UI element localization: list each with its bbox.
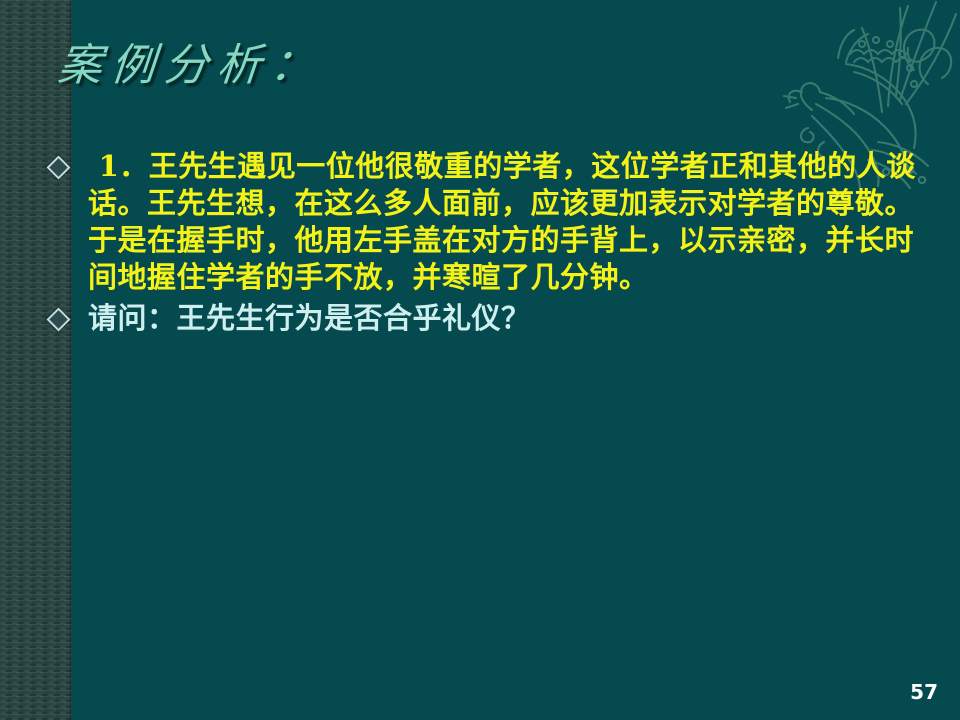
- bullet-text-question: 请问：王先生行为是否合乎礼仪？: [88, 300, 920, 337]
- sidebar-edge-shadow: [70, 0, 72, 720]
- list-item: 请问：王先生行为是否合乎礼仪？: [44, 300, 920, 337]
- presentation-slide: 案例分析： 1．王先生遇见一位他很敬重的学者，这位学者正和其他的人谈话。王先生想…: [0, 0, 960, 720]
- page-number: 57: [910, 680, 938, 704]
- diamond-bullet-icon: [46, 155, 70, 179]
- list-item: 1．王先生遇见一位他很敬重的学者，这位学者正和其他的人谈话。王先生想，在这么多人…: [44, 148, 920, 296]
- sidebar-texture-band: [0, 0, 72, 720]
- slide-body: 1．王先生遇见一位他很敬重的学者，这位学者正和其他的人谈话。王先生想，在这么多人…: [44, 148, 920, 341]
- slide-title: 案例分析：: [56, 44, 325, 88]
- diamond-bullet-icon: [46, 307, 70, 331]
- bullet-text-case: 1．王先生遇见一位他很敬重的学者，这位学者正和其他的人谈话。王先生想，在这么多人…: [88, 148, 920, 296]
